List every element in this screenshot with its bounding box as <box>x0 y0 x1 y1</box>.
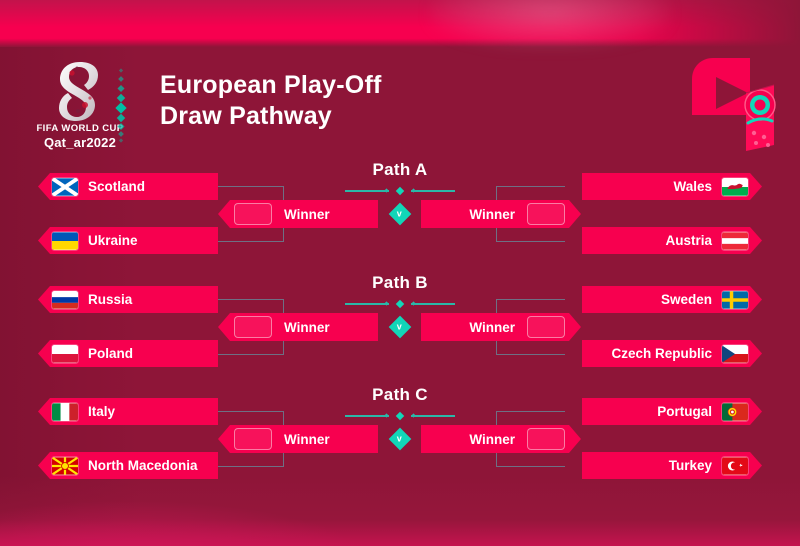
path-a-rule <box>345 186 455 195</box>
page-title-line-2: Draw Pathway <box>160 101 580 132</box>
top-accent-band <box>0 0 800 47</box>
winner-flag-placeholder <box>234 316 272 338</box>
team-label: Czech Republic <box>611 346 712 361</box>
austria-flag-icon <box>722 232 748 250</box>
qatar-emblem-icon <box>686 53 782 151</box>
wales-flag-icon <box>722 178 748 196</box>
ukraine-flag-icon <box>52 232 78 250</box>
top-watermark-blur <box>430 0 670 48</box>
winner-flag-placeholder <box>234 428 272 450</box>
team-label: Italy <box>88 404 115 419</box>
path-c-left-winner-slot[interactable]: Winner <box>218 425 378 453</box>
page-title-line-1: European Play-Off <box>160 70 580 101</box>
winner-label: Winner <box>284 320 330 335</box>
team-label: Wales <box>673 179 712 194</box>
winner-flag-placeholder <box>527 203 565 225</box>
team-label: Turkey <box>669 458 712 473</box>
path-a-left-winner-slot[interactable]: Winner <box>218 200 378 228</box>
poland-flag-icon <box>52 345 78 363</box>
page-title: European Play-Off Draw Pathway <box>160 70 580 132</box>
winner-flag-placeholder <box>234 203 272 225</box>
path-c-section: Path C Italy North Mace <box>0 385 800 498</box>
winner-label: Winner <box>284 207 330 222</box>
path-b-right-bottom-team[interactable]: Czech Republic <box>582 340 762 367</box>
team-label: Scotland <box>88 179 145 194</box>
team-label: Poland <box>88 346 133 361</box>
versus-label: v <box>397 209 402 218</box>
qatar-2022-loop-icon <box>52 60 108 122</box>
bottom-corner-glow <box>0 502 380 546</box>
path-b-rule <box>345 299 455 308</box>
team-label: North Macedonia <box>88 458 198 473</box>
header: FIFA WORLD CUP Qat_ar2022 European Play-… <box>0 47 800 157</box>
scotland-flag-icon <box>52 178 78 196</box>
path-c-right-top-team[interactable]: Portugal <box>582 398 762 425</box>
path-c-left-top-team[interactable]: Italy <box>38 398 218 425</box>
north-macedonia-flag-icon <box>52 457 78 475</box>
path-b-right-top-team[interactable]: Sweden <box>582 286 762 313</box>
path-b-left-winner-slot[interactable]: Winner <box>218 313 378 341</box>
path-a-section: Path A Scotland Ukraine Winner <box>0 160 800 273</box>
path-b-versus-badge: v <box>389 316 412 339</box>
path-a-versus-badge: v <box>389 203 412 226</box>
versus-label: v <box>397 434 402 443</box>
team-label: Austria <box>665 233 712 248</box>
team-label: Sweden <box>661 292 712 307</box>
winner-label: Winner <box>469 207 515 222</box>
team-label: Portugal <box>657 404 712 419</box>
path-c-left-bottom-team[interactable]: North Macedonia <box>38 452 218 479</box>
team-label: Russia <box>88 292 132 307</box>
czech-republic-flag-icon <box>722 345 748 363</box>
path-b-left-top-team[interactable]: Russia <box>38 286 218 313</box>
path-b-left-bottom-team[interactable]: Poland <box>38 340 218 367</box>
path-a-left-bottom-team[interactable]: Ukraine <box>38 227 218 254</box>
winner-label: Winner <box>469 320 515 335</box>
path-c-rule <box>345 411 455 420</box>
portugal-flag-icon <box>722 403 748 421</box>
winner-label: Winner <box>469 432 515 447</box>
italy-flag-icon <box>52 403 78 421</box>
winner-flag-placeholder <box>527 316 565 338</box>
turkey-flag-icon <box>722 457 748 475</box>
path-c-versus-badge: v <box>389 428 412 451</box>
sweden-flag-icon <box>722 291 748 309</box>
path-a-right-bottom-team[interactable]: Austria <box>582 227 762 254</box>
path-c-right-bottom-team[interactable]: Turkey <box>582 452 762 479</box>
russia-flag-icon <box>52 291 78 309</box>
team-label: Ukraine <box>88 233 138 248</box>
path-a-right-winner-slot[interactable]: Winner <box>421 200 581 228</box>
path-b-section: Path B Russia Poland Winner <box>0 273 800 386</box>
playoff-bracket-graphic: FIFA WORLD CUP Qat_ar2022 European Play-… <box>0 0 800 546</box>
header-dot-divider <box>112 67 130 143</box>
winner-flag-placeholder <box>527 428 565 450</box>
path-c-right-winner-slot[interactable]: Winner <box>421 425 581 453</box>
path-b-right-winner-slot[interactable]: Winner <box>421 313 581 341</box>
winner-label: Winner <box>284 432 330 447</box>
path-a-right-top-team[interactable]: Wales <box>582 173 762 200</box>
versus-label: v <box>397 322 402 331</box>
path-a-left-top-team[interactable]: Scotland <box>38 173 218 200</box>
